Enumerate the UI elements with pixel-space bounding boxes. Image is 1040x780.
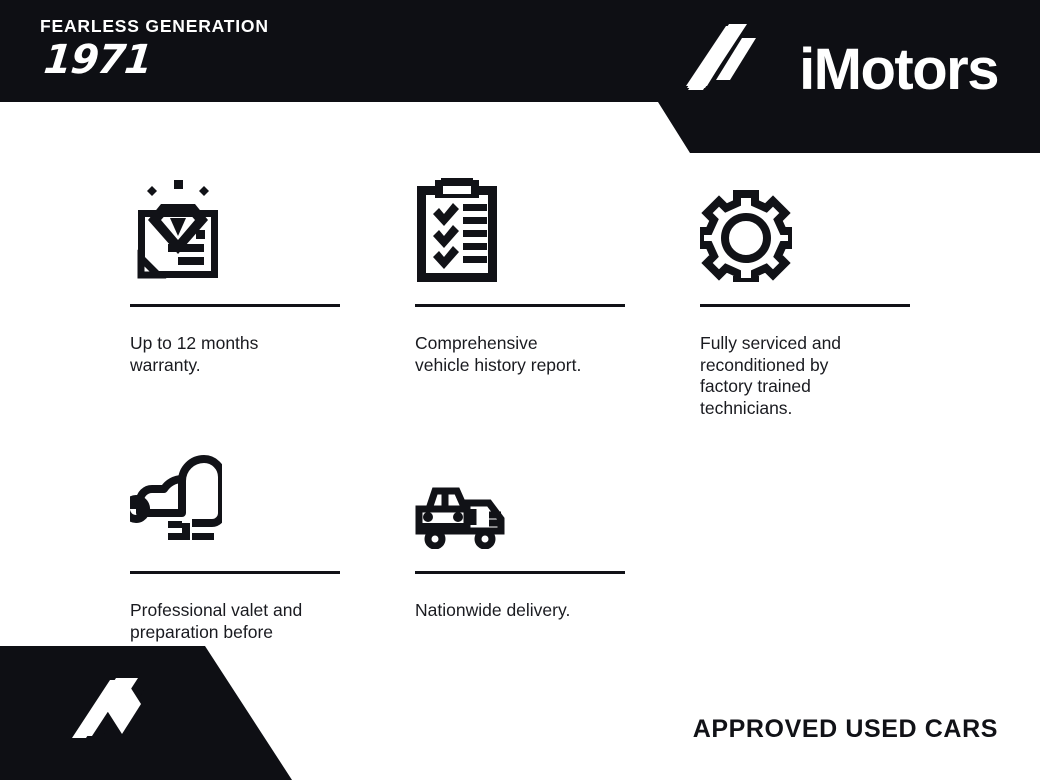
feature-card-servicing: Fully serviced and reconditioned by fact… <box>700 170 985 419</box>
feature-icon-slot <box>415 170 700 282</box>
car-transporter-truck-icon <box>415 481 505 549</box>
feature-divider <box>130 571 340 574</box>
features-grid: Up to 12 months warranty. <box>0 170 1040 665</box>
features-row-1: Up to 12 months warranty. <box>0 170 1040 419</box>
feature-icon-slot <box>130 170 415 282</box>
imotors-chevron-logo-icon <box>685 24 781 116</box>
footer-tagline: APPROVED USED CARS <box>693 715 998 744</box>
gear-cog-icon <box>700 190 792 282</box>
feature-label: Fully serviced and reconditioned by fact… <box>700 333 915 419</box>
feature-card-history-report: Comprehensive vehicle history report. <box>415 170 700 419</box>
feature-card-delivery: Nationwide delivery. <box>415 449 700 665</box>
feature-icon-slot <box>415 449 700 549</box>
imotors-wordmark: iMotors <box>799 41 998 99</box>
header-year-logo: 1971 <box>42 40 273 80</box>
feature-card-empty <box>700 449 985 665</box>
imotors-brand-lockup[interactable]: iMotors <box>685 24 998 116</box>
vacuum-cleaner-valet-icon <box>130 451 222 549</box>
feature-divider <box>700 304 910 307</box>
feature-icon-slot <box>130 449 415 549</box>
features-row-2: Professional valet and preparation befor… <box>0 449 1040 665</box>
feature-label: Comprehensive vehicle history report. <box>415 333 630 376</box>
feature-card-valet: Professional valet and preparation befor… <box>130 449 415 665</box>
clipboard-checklist-icon <box>415 178 499 282</box>
feature-icon-slot <box>700 170 985 282</box>
warranty-certificate-diamond-icon <box>130 180 226 282</box>
feature-label: Nationwide delivery. <box>415 600 630 622</box>
feature-divider <box>415 571 625 574</box>
feature-divider <box>415 304 625 307</box>
header-kicker: FEARLESS GENERATION <box>40 18 269 36</box>
feature-card-warranty: Up to 12 months warranty. <box>130 170 415 419</box>
feature-divider <box>130 304 340 307</box>
imotors-chevron-logo-icon <box>72 676 162 762</box>
fearless-generation-lockup: FEARLESS GENERATION 1971 <box>40 18 269 80</box>
feature-label: Up to 12 months warranty. <box>130 333 345 376</box>
